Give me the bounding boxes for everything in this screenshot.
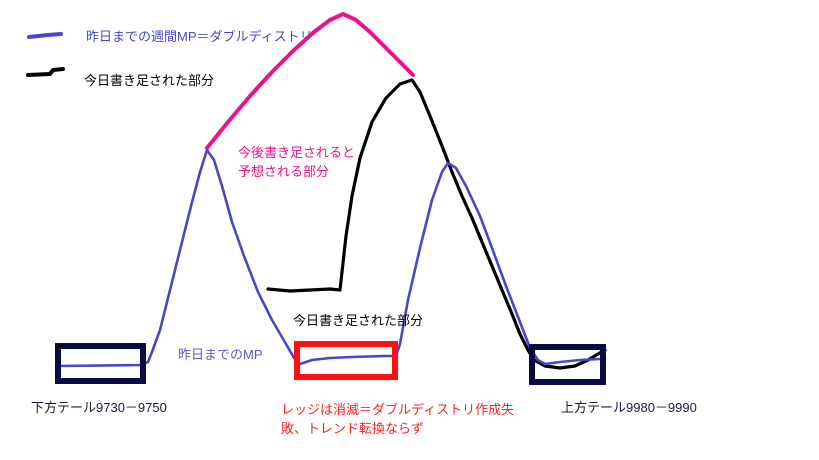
upper-tail-label: 上方テール9980－9990 [561, 399, 697, 418]
series-line-weekly-mp [56, 150, 605, 366]
annotation-ledge-failure: レッジは消滅＝ダブルディストリ作成失 敗、トレンド転換ならず [281, 401, 514, 439]
chart-canvas: 昨日までの週間MP＝ダブルディストリ 今日書き足された部分 今後書き足されると … [0, 0, 819, 460]
annotation-ledge-failure-line-2: 敗、トレンド転換ならず [281, 420, 514, 439]
market-profile-chart [0, 0, 819, 460]
lower-tail-box [58, 346, 143, 381]
legend-swatch-icon-weekly-mp [29, 34, 61, 37]
legend-label-weekly-mp: 昨日までの週間MP＝ダブルディストリ [86, 28, 313, 47]
annotation-yesterday-mp: 昨日までのMP [178, 346, 263, 365]
annotation-ledge-failure-line-1: レッジは消滅＝ダブルディストリ作成失 [281, 401, 514, 420]
annotation-projected-line-1: 今後書き足されると [238, 144, 355, 163]
annotation-projected-future: 今後書き足されると 予想される部分 [238, 144, 355, 182]
legend-label-added-today: 今日書き足された部分 [84, 72, 214, 91]
annotation-added-today: 今日書き足された部分 [293, 312, 423, 331]
annotation-projected-line-2: 予想される部分 [238, 163, 355, 182]
lower-tail-label: 下方テール9730－9750 [31, 399, 167, 418]
legend-swatch-icon-added-today [28, 69, 63, 75]
